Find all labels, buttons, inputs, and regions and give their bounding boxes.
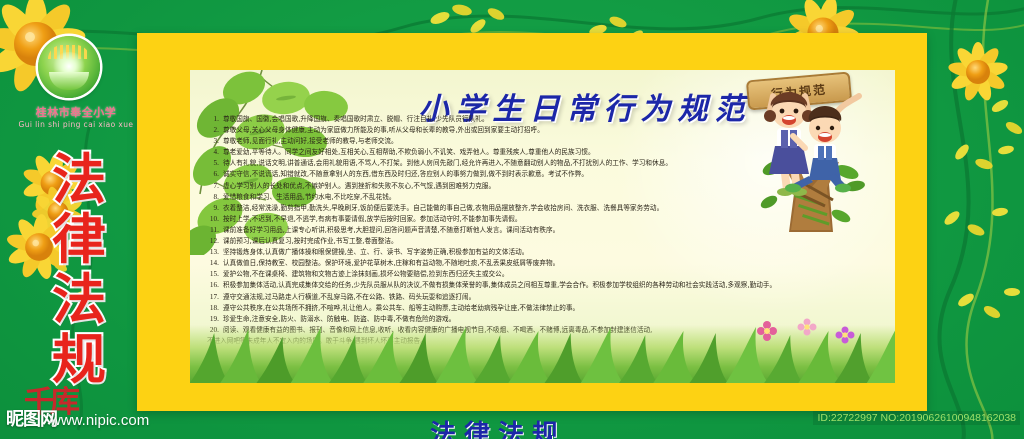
rule-item: 2.尊敬父母,关心父母身体健康,主动为家庭做力所能及的事,听从父母和长辈的教导,… <box>206 125 887 136</box>
sunflower-right-mid <box>948 42 1008 102</box>
side-vertical-title: 法 律 法 规 <box>36 150 122 390</box>
rule-text: 认真做值日,保持教室、校园整洁。保护环境,爱护花草树木,庄稼和有益动物,不随地吐… <box>223 258 887 269</box>
rule-number: 15. <box>206 269 223 280</box>
rule-item: 6.诚实守信,不说谎话,知错就改,不随意拿别人的东西,借东西及时归还,答应别人的… <box>206 169 887 180</box>
rule-number: 8. <box>206 192 223 203</box>
poster-canvas: 桂林市奉全小学 Gui lin shi ping cai xiao xue 法 … <box>0 0 1024 439</box>
rule-number: 16. <box>206 280 223 291</box>
rule-item: 14.认真做值日,保持教室、校园整洁。保护环境,爱护花草树木,庄稼和有益动物,不… <box>206 258 887 269</box>
rule-text: 尊敬父母,关心父母身体健康,主动为家庭做力所能及的事,听从父母和长辈的教导,外出… <box>223 125 887 136</box>
rule-item: 13.坚持锻炼身体,认真做广播体操和眼保健操,坐、立、行、读书、写字姿势正确,积… <box>206 247 887 258</box>
board-inner-panel: 小学生日常行为规范 行为规范 <box>190 70 895 383</box>
rule-number: 9. <box>206 203 223 214</box>
school-logo-badge <box>38 36 100 98</box>
rule-text: 诚实守信,不说谎话,知错就改,不随意拿别人的东西,借东西及时归还,答应别人的事努… <box>223 169 887 180</box>
rule-item: 11.课前准备好学习用品,上课专心听讲,积极思考,大胆提问,回答问题声音清楚,不… <box>206 225 887 236</box>
rule-number: 6. <box>206 169 223 180</box>
rule-item: 5.待人有礼貌,说话文明,讲普通话,会用礼貌用语,不骂人,不打架。到他人房间先敲… <box>206 158 887 169</box>
rule-text: 坚持锻炼身体,认真做广播体操和眼保健操,坐、立、行、读书、写字姿势正确,积极参加… <box>223 247 887 258</box>
rule-number: 4. <box>206 147 223 158</box>
rule-item: 12.课前预习,课后认真复习,按时完成作业,书写工整,卷面整洁。 <box>206 236 887 247</box>
rule-number: 3. <box>206 136 223 147</box>
logo-leaf-icon <box>49 72 89 90</box>
rule-text: 待人有礼貌,说话文明,讲普通话,会用礼貌用语,不骂人,不打架。到他人房间先敲门,… <box>223 158 887 169</box>
rule-text: 尊老爱幼,平等待人。同学之间友好相处,互相关心,互相帮助,不欺负弱小,不讥笑、戏… <box>223 147 887 158</box>
image-id-tag: ID:22722997 NO:20190626100948162038 <box>813 411 1020 425</box>
rule-number: 10. <box>206 214 223 225</box>
rule-number: 12. <box>206 236 223 247</box>
rule-number: 14. <box>206 258 223 269</box>
rule-number: 11. <box>206 225 223 236</box>
rule-number: 13. <box>206 247 223 258</box>
bottom-flowers <box>747 313 877 357</box>
rule-item: 17.遵守交通法规,过马路走人行横道,不乱穿马路,不在公路、铁路、码头玩耍和追逐… <box>206 292 887 303</box>
rule-item: 4.尊老爱幼,平等待人。同学之间友好相处,互相关心,互相帮助,不欺负弱小,不讥笑… <box>206 147 887 158</box>
watermark-url: www.nipic.com <box>50 412 149 429</box>
rule-text: 虚心学习别人的长处和优点,不嫉妒别人。遇到挫折和失败不灰心,不气馁,遇到困难努力… <box>223 181 887 192</box>
rule-text: 尊敬国旗、国徽,会唱国歌,升降国旗、奏唱国歌时肃立、脱帽、行注目礼,少先队员行队… <box>223 114 887 125</box>
rule-text: 爱惜粮食和学习、生活用品,节约水电,不比吃穿,不乱花钱。 <box>223 192 887 203</box>
school-name-pinyin: Gui lin shi ping cai xiao xue <box>18 120 134 129</box>
rule-text: 课前预习,课后认真复习,按时完成作业,书写工整,卷面整洁。 <box>223 236 887 247</box>
rule-number: 2. <box>206 125 223 136</box>
rule-number: 19. <box>206 314 223 325</box>
rule-item: 8.爱惜粮食和学习、生活用品,节约水电,不比吃穿,不乱花钱。 <box>206 192 887 203</box>
rule-text: 尊敬老师,见面行礼,主动问好,接受老师的教导,与老师交流。 <box>223 136 887 147</box>
rule-item: 1.尊敬国旗、国徽,会唱国歌,升降国旗、奏唱国歌时肃立、脱帽、行注目礼,少先队员… <box>206 114 887 125</box>
rule-item: 9.衣着整洁,经常洗澡,勤剪指甲,勤洗头,早晚刷牙,饭前便后要洗手。自己能做的事… <box>206 203 887 214</box>
rule-text: 衣着整洁,经常洗澡,勤剪指甲,勤洗头,早晚刷牙,饭前便后要洗手。自己能做的事自己… <box>223 203 887 214</box>
rule-text: 积极参加集体活动,认真完成集体交给的任务,少先队员服从队的决议,不做有损集体荣誉… <box>223 280 887 291</box>
rule-item: 16.积极参加集体活动,认真完成集体交给的任务,少先队员服从队的决议,不做有损集… <box>206 280 887 291</box>
rule-text: 按时上学,不迟到,不早退,不逃学,有病有事要请假,放学后按时回家。参加活动守时,… <box>223 214 887 225</box>
rule-number: 18. <box>206 303 223 314</box>
rule-number: 5. <box>206 158 223 169</box>
rule-number: 17. <box>206 292 223 303</box>
rule-text: 遵守交通法规,过马路走人行横道,不乱穿马路,不在公路、铁路、码头玩耍和追逐打闹。 <box>223 292 887 303</box>
rule-text: 课前准备好学习用品,上课专心听讲,积极思考,大胆提问,回答问题声音清楚,不随意打… <box>223 225 887 236</box>
side-title-char: 法 <box>52 270 106 330</box>
rule-number: 1. <box>206 114 223 125</box>
bottom-partial-title: 法律法规 <box>430 414 566 439</box>
rule-number: 7. <box>206 181 223 192</box>
rule-item: 7.虚心学习别人的长处和优点,不嫉妒别人。遇到挫折和失败不灰心,不气馁,遇到困难… <box>206 181 887 192</box>
side-title-char: 法 <box>52 150 106 210</box>
rule-item: 3.尊敬老师,见面行礼,主动问好,接受老师的教导,与老师交流。 <box>206 136 887 147</box>
rule-text: 爱护公物,不在课桌椅、建筑物和文物古迹上涂抹刻画,损坏公物要赔偿,捡到东西归还失… <box>223 269 887 280</box>
rule-item: 15.爱护公物,不在课桌椅、建筑物和文物古迹上涂抹刻画,损坏公物要赔偿,捡到东西… <box>206 269 887 280</box>
side-title-char: 律 <box>52 210 106 270</box>
school-name: 桂林市奉全小学 <box>22 104 130 120</box>
rule-item: 10.按时上学,不迟到,不早退,不逃学,有病有事要请假,放学后按时回家。参加活动… <box>206 214 887 225</box>
board-frame: 小学生日常行为规范 行为规范 <box>137 33 927 411</box>
